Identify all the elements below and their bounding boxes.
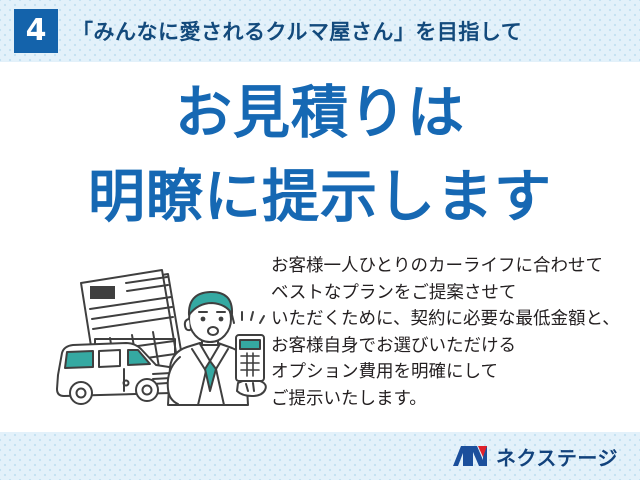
body-copy-line: お客様自身でお選びいただける: [271, 332, 631, 359]
calculator-icon: [236, 335, 264, 381]
footer-bar: ネクステージ: [0, 432, 640, 480]
body-copy-line: ご提示いたします。: [271, 385, 631, 412]
body-copy-line: ベストなプランをご提案させて: [271, 279, 631, 306]
body-copy-line: お客様一人ひとりのカーライフに合わせて: [271, 252, 631, 279]
body-copy: お客様一人ひとりのカーライフに合わせて ベストなプランをご提案させて いただくた…: [271, 252, 631, 411]
promo-slide: 4 「みんなに愛されるクルマ屋さん」を目指して お見積りは 明瞭に提示します お…: [0, 0, 640, 480]
content-panel: お見積りは 明瞭に提示します お客様一人ひとりのカーライフに合わせて ベストなプ…: [0, 62, 640, 432]
sparkle-icon: [232, 312, 264, 323]
headline-line-2: 明瞭に提示します: [0, 169, 640, 226]
header-title: 「みんなに愛されるクルマ屋さん」を目指して: [72, 16, 522, 46]
brand-name: ネクステージ: [496, 442, 618, 471]
headline-line-1: お見積りは: [0, 85, 640, 142]
header-bar: 4 「みんなに愛されるクルマ屋さん」を目指して: [0, 0, 640, 62]
illustration: [40, 257, 270, 427]
nextage-n-mark-icon: [453, 444, 487, 468]
section-number-badge: 4: [14, 9, 58, 53]
body-copy-line: いただくために、契約に必要な最低金額と、: [271, 305, 631, 332]
brand-logo: ネクステージ: [453, 442, 618, 471]
body-copy-line: オプション費用を明確にして: [271, 358, 631, 385]
